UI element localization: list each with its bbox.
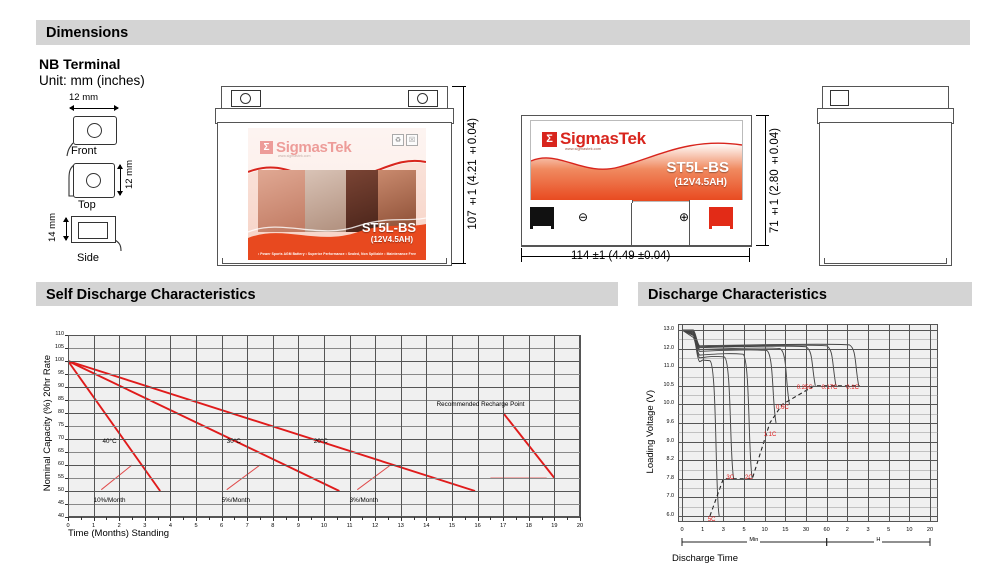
self-ytick-label: 105	[46, 344, 64, 350]
discharge-gridline-v	[847, 324, 848, 522]
self-xtick-label: 8	[263, 523, 283, 529]
discharge-xtick-label: 2	[837, 527, 857, 533]
self-xtick-label: 9	[288, 523, 308, 529]
self-gridline-v	[401, 335, 402, 517]
discharge-curve-label: 0.25C	[797, 385, 813, 391]
discharge-gridline-v	[909, 324, 910, 522]
discharge-gridline-v	[682, 324, 683, 522]
self-xtick-minor	[311, 517, 312, 520]
self-xtick-mark	[529, 517, 530, 521]
self-xtick-label: 2	[109, 523, 129, 529]
self-discharge-annotation: 40°C	[103, 438, 117, 445]
self-xtick-minor	[465, 517, 466, 520]
discharge-gridline-v	[765, 324, 766, 522]
discharge-curve-label: 0.6C	[776, 405, 789, 411]
discharge-gridline-v	[868, 324, 869, 522]
discharge-gridline-h	[678, 349, 938, 350]
self-xtick-mark	[375, 517, 376, 521]
discharge-xtick-label: 5	[734, 527, 754, 533]
self-xtick-mark	[145, 517, 146, 521]
self-xtick-minor	[362, 517, 363, 520]
self-ytick-label: 60	[46, 461, 64, 467]
self-discharge-annotation: 10%/Month	[94, 497, 126, 504]
discharge-ytick-label: 9.0	[652, 438, 674, 444]
discharge-gridline-h-minor	[678, 488, 938, 489]
self-xtick-mark	[298, 517, 299, 521]
self-xtick-minor	[439, 517, 440, 520]
self-xtick-minor	[414, 517, 415, 520]
self-xtick-minor	[516, 517, 517, 520]
self-xtick-label: 6	[212, 523, 232, 529]
discharge-ytick-label: 10.5	[652, 382, 674, 388]
self-xtick-minor	[286, 517, 287, 520]
self-xtick-minor	[234, 517, 235, 520]
self-xtick-label: 19	[544, 523, 564, 529]
self-xtick-mark	[503, 517, 504, 521]
self-gridline-v	[145, 335, 146, 517]
self-gridline-v	[375, 335, 376, 517]
discharge-gridline-h	[678, 497, 938, 498]
self-xtick-minor	[158, 517, 159, 520]
discharge-ytick-label: 12.0	[652, 345, 674, 351]
self-xtick-label: 11	[340, 523, 360, 529]
self-xtick-minor	[388, 517, 389, 520]
self-gridline-v	[94, 335, 95, 517]
discharge-gridline-h-minor	[678, 507, 938, 508]
self-ytick-label: 80	[46, 409, 64, 415]
self-xtick-mark	[119, 517, 120, 521]
self-gridline-v	[350, 335, 351, 517]
self-ytick-label: 45	[46, 500, 64, 506]
self-gridline-v	[298, 335, 299, 517]
discharge-xtick-label: 5	[879, 527, 899, 533]
self-xtick-minor	[183, 517, 184, 520]
discharge-curve-label: 3C	[726, 475, 734, 481]
discharge-gridline-h	[678, 442, 938, 443]
self-gridline-v	[119, 335, 120, 517]
discharge-gridline-h-minor	[678, 358, 938, 359]
self-xtick-mark	[580, 517, 581, 521]
self-xtick-mark	[273, 517, 274, 521]
self-xtick-label: 16	[468, 523, 488, 529]
self-xtick-label: 18	[519, 523, 539, 529]
discharge-curve-label: 0.17C	[822, 385, 838, 391]
self-xtick-mark	[68, 517, 69, 521]
discharge-xtick-label: 3	[713, 527, 733, 533]
discharge-gridline-v	[806, 324, 807, 522]
self-xtick-label: 20	[570, 523, 590, 529]
self-xtick-label: 5	[186, 523, 206, 529]
discharge-curve-label: 2C	[745, 475, 753, 481]
discharge-gridline-h-minor	[678, 470, 938, 471]
self-xtick-minor	[81, 517, 82, 520]
discharge-gridline-v	[744, 324, 745, 522]
discharge-ytick-label: 7.8	[652, 475, 674, 481]
self-xtick-label: 10	[314, 523, 334, 529]
self-ytick-label: 110	[46, 331, 64, 337]
self-discharge-annotation: 5%/Month	[222, 497, 250, 504]
self-xtick-minor	[106, 517, 107, 520]
self-xtick-mark	[350, 517, 351, 521]
discharge-ytick-label: 9.6	[652, 419, 674, 425]
discharge-ytick-label: 6.0	[652, 512, 674, 518]
discharge-xtick-label: 10	[899, 527, 919, 533]
self-xtick-label: 7	[237, 523, 257, 529]
discharge-axis-group-min: Min	[747, 537, 760, 543]
self-xtick-minor	[132, 517, 133, 520]
self-xtick-label: 3	[135, 523, 155, 529]
self-xtick-mark	[554, 517, 555, 521]
self-gridline-v	[426, 335, 427, 517]
self-ytick-label: 85	[46, 396, 64, 402]
discharge-gridline-h-minor	[678, 451, 938, 452]
self-xtick-label: 15	[442, 523, 462, 529]
discharge-xtick-label: 10	[755, 527, 775, 533]
discharge-xtick-label: 60	[817, 527, 837, 533]
discharge-axis-group-hour: H	[874, 537, 882, 543]
self-gridline-v	[529, 335, 530, 517]
self-xtick-label: 13	[391, 523, 411, 529]
self-xtick-mark	[170, 517, 171, 521]
discharge-ytick-label: 10.0	[652, 400, 674, 406]
discharge-gridline-h-minor	[678, 395, 938, 396]
discharge-ytick-label: 8.2	[652, 456, 674, 462]
self-gridline-v	[452, 335, 453, 517]
discharge-gridline-v	[889, 324, 890, 522]
discharge-gridline-v	[785, 324, 786, 522]
discharge-gridline-v	[930, 324, 931, 522]
self-xtick-mark	[247, 517, 248, 521]
self-xtick-label: 17	[493, 523, 513, 529]
discharge-gridline-h	[678, 516, 938, 517]
self-gridline-v	[503, 335, 504, 517]
self-xtick-label: 12	[365, 523, 385, 529]
self-ytick-label: 40	[46, 513, 64, 519]
self-gridline-v	[273, 335, 274, 517]
self-xtick-label: 1	[84, 523, 104, 529]
discharge-ytick-label: 11.0	[652, 363, 674, 369]
self-xtick-minor	[337, 517, 338, 520]
self-gridline-v	[324, 335, 325, 517]
discharge-gridline-h	[678, 404, 938, 405]
discharge-xtick-label: 15	[775, 527, 795, 533]
self-xtick-minor	[490, 517, 491, 520]
self-xtick-mark	[222, 517, 223, 521]
self-xtick-minor	[542, 517, 543, 520]
discharge-xtick-label: 30	[796, 527, 816, 533]
discharge-xtick-label: 20	[920, 527, 940, 533]
self-ytick-label: 55	[46, 474, 64, 480]
discharge-curve-label: 0.1C	[846, 385, 859, 391]
self-xtick-mark	[478, 517, 479, 521]
self-gridline-v	[247, 335, 248, 517]
self-xtick-mark	[401, 517, 402, 521]
self-xtick-mark	[324, 517, 325, 521]
discharge-xtick-label: 1	[693, 527, 713, 533]
discharge-gridline-h-minor	[678, 414, 938, 415]
discharge-xtick-label: 3	[858, 527, 878, 533]
discharge-gridline-h-minor	[678, 432, 938, 433]
self-xtick-minor	[567, 517, 568, 520]
discharge-gridline-h	[678, 423, 938, 424]
discharge-gridline-h	[678, 479, 938, 480]
discharge-gridline-h	[678, 460, 938, 461]
discharge-xtick-label: 0	[672, 527, 692, 533]
self-ytick-label: 75	[46, 422, 64, 428]
self-ytick-label: 95	[46, 370, 64, 376]
self-discharge-annotation: 3%/Month	[350, 497, 378, 504]
self-ytick-label: 90	[46, 383, 64, 389]
self-xtick-minor	[260, 517, 261, 520]
self-ytick-label: 65	[46, 448, 64, 454]
self-xtick-minor	[209, 517, 210, 520]
discharge-gridline-h-minor	[678, 339, 938, 340]
self-xtick-label: 14	[416, 523, 436, 529]
discharge-curve-label: 5C	[708, 517, 716, 523]
self-xtick-mark	[452, 517, 453, 521]
self-discharge-annotation: 30°C	[227, 438, 241, 445]
self-gridline-v	[68, 335, 69, 517]
self-xtick-mark	[426, 517, 427, 521]
discharge-gridline-v	[703, 324, 704, 522]
discharge-gridline-h-minor	[678, 377, 938, 378]
discharge-gridline-v	[723, 324, 724, 522]
self-xtick-mark	[196, 517, 197, 521]
discharge-gridline-h	[678, 330, 938, 331]
self-xtick-mark	[94, 517, 95, 521]
self-gridline-v	[170, 335, 171, 517]
self-discharge-annotation: 20°C	[314, 438, 328, 445]
self-ytick-label: 100	[46, 357, 64, 363]
discharge-ytick-label: 13.0	[652, 326, 674, 332]
discharge-curve-label: 1.1C	[764, 432, 777, 438]
self-xtick-label: 4	[160, 523, 180, 529]
self-gridline-v	[580, 335, 581, 517]
self-xtick-label: 0	[58, 523, 78, 529]
self-gridline-v	[478, 335, 479, 517]
discharge-ytick-label: 7.0	[652, 493, 674, 499]
discharge-gridline-v	[827, 324, 828, 522]
self-gridline-v	[554, 335, 555, 517]
self-gridline-v	[222, 335, 223, 517]
self-discharge-annotation: Recommended Recharge Point	[437, 401, 525, 408]
self-ytick-label: 70	[46, 435, 64, 441]
discharge-gridline-h	[678, 367, 938, 368]
self-gridline-v	[196, 335, 197, 517]
self-ytick-label: 50	[46, 487, 64, 493]
